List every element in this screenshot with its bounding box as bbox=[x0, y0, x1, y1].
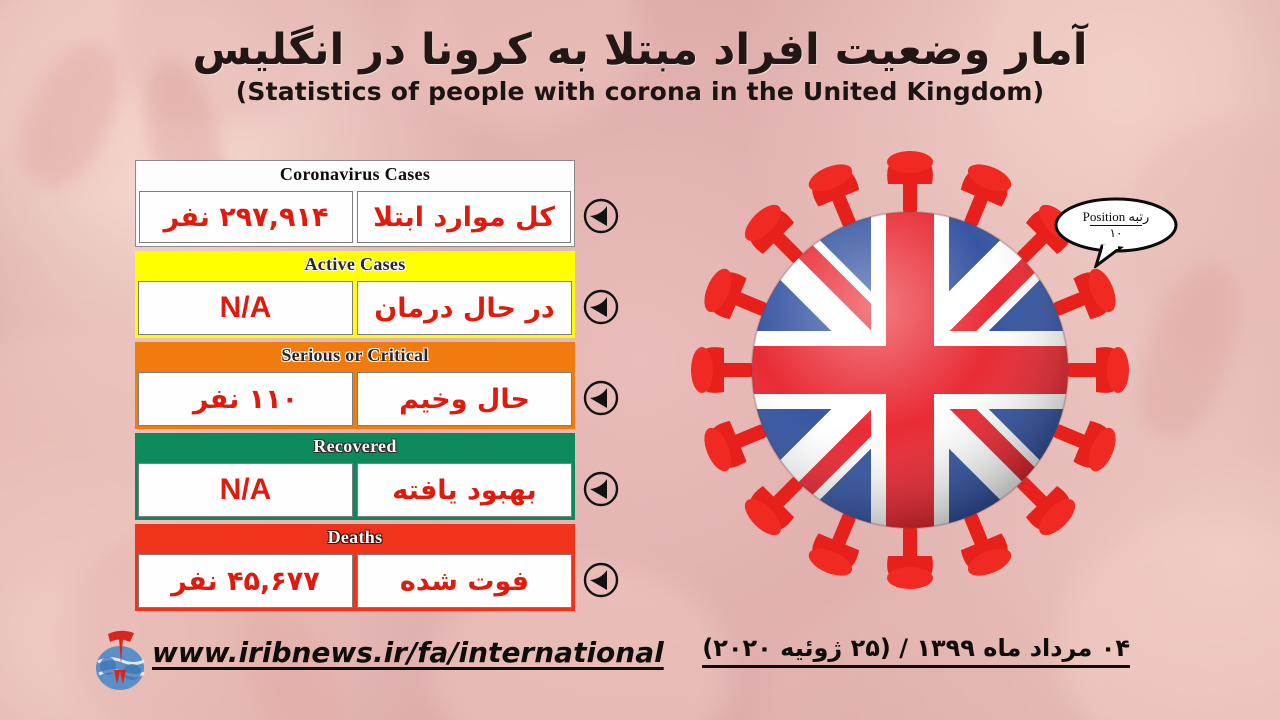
stat-row-cells: ۴۵,۶۷۷ نفرفوت شده bbox=[135, 551, 575, 611]
stat-value: N/A bbox=[220, 291, 272, 325]
stat-value: ۱۱۰ نفر bbox=[193, 384, 298, 415]
stat-label-cell: فوت شده bbox=[357, 554, 572, 608]
stat-row-cells: ۱۱۰ نفرحال وخیم bbox=[135, 369, 575, 429]
page-title: آمار وضعیت افراد مبتلا به کرونا در انگلی… bbox=[0, 26, 1280, 106]
stat-label: در حال درمان bbox=[374, 293, 555, 324]
stat-label-cell: در حال درمان bbox=[357, 281, 572, 335]
stat-value-cell: ۴۵,۶۷۷ نفر bbox=[138, 554, 353, 608]
stat-value-cell: ۱۱۰ نفر bbox=[138, 372, 353, 426]
stat-row-cells: ۲۹۷,۹۱۴ نفرکل موارد ابتلا bbox=[136, 188, 574, 246]
stat-label-cell: حال وخیم bbox=[357, 372, 572, 426]
arrow-left-circle-icon[interactable] bbox=[582, 470, 620, 508]
stat-row-header: Active Cases bbox=[135, 251, 575, 278]
arrow-left-circle-icon[interactable] bbox=[582, 379, 620, 417]
stat-row-cells: N/Aبهبود یافته bbox=[135, 460, 575, 520]
title-english: (Statistics of people with corona in the… bbox=[0, 77, 1280, 106]
stat-value-cell: N/A bbox=[138, 463, 353, 517]
stat-row-header: Deaths bbox=[135, 524, 575, 551]
stat-value-cell: ۲۹۷,۹۱۴ نفر bbox=[139, 191, 353, 243]
stat-row: Deaths۴۵,۶۷۷ نفرفوت شده bbox=[135, 524, 575, 611]
stat-value: N/A bbox=[220, 473, 272, 507]
arrow-left-circle-icon[interactable] bbox=[582, 561, 620, 599]
stat-label: فوت شده bbox=[400, 566, 529, 597]
statistics-table: Coronavirus Cases۲۹۷,۹۱۴ نفرکل موارد ابت… bbox=[135, 160, 575, 615]
stat-value: ۴۵,۶۷۷ نفر bbox=[171, 566, 319, 597]
stat-row: RecoveredN/Aبهبود یافته bbox=[135, 433, 575, 520]
stat-row: Serious or Critical۱۱۰ نفرحال وخیم bbox=[135, 342, 575, 429]
callout-position-value: ۱۰ bbox=[1110, 227, 1123, 240]
title-persian: آمار وضعیت افراد مبتلا به کرونا در انگلی… bbox=[0, 26, 1280, 74]
stat-label-cell: کل موارد ابتلا bbox=[357, 191, 571, 243]
stat-label: بهبود یافته bbox=[392, 475, 537, 506]
position-callout: رتبه Position ۱۰ bbox=[1052, 196, 1180, 268]
stat-value-cell: N/A bbox=[138, 281, 353, 335]
arrow-left-circle-icon[interactable] bbox=[582, 197, 620, 235]
footer-website-url[interactable]: www.iribnews.ir/fa/international bbox=[152, 636, 664, 669]
stat-row-header: Serious or Critical bbox=[135, 342, 575, 369]
stat-row-header: Coronavirus Cases bbox=[136, 161, 574, 188]
stat-label-cell: بهبود یافته bbox=[357, 463, 572, 517]
stat-label: حال وخیم bbox=[399, 384, 530, 415]
footer-date: ۰۴ مرداد ماه ۱۳۹۹ / (۲۵ ژوئیه ۲۰۲۰) bbox=[702, 634, 1130, 668]
stat-label: کل موارد ابتلا bbox=[373, 202, 555, 233]
stat-row-header: Recovered bbox=[135, 433, 575, 460]
stat-value: ۲۹۷,۹۱۴ نفر bbox=[164, 202, 329, 233]
stat-row: Coronavirus Cases۲۹۷,۹۱۴ نفرکل موارد ابت… bbox=[135, 160, 575, 247]
arrow-left-circle-icon[interactable] bbox=[582, 288, 620, 326]
callout-position-label: رتبه Position bbox=[1083, 210, 1150, 224]
stat-row: Active CasesN/Aدر حال درمان bbox=[135, 251, 575, 338]
stat-row-cells: N/Aدر حال درمان bbox=[135, 278, 575, 338]
irib-globe-logo-icon bbox=[90, 628, 152, 692]
